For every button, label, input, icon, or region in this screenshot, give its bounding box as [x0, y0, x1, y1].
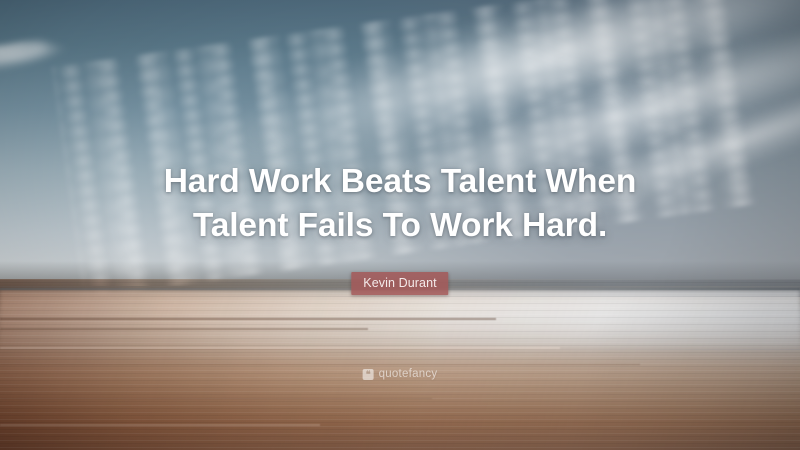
watermark[interactable]: ❝ quotefancy: [363, 368, 438, 380]
quote-text: Hard Work Beats Talent When Talent Fails…: [0, 160, 800, 248]
watermark-label: quotefancy: [379, 368, 438, 380]
quote-mark-icon: ❝: [363, 369, 374, 380]
author-badge: Kevin Durant: [351, 272, 448, 295]
quote-content: Hard Work Beats Talent When Talent Fails…: [0, 0, 800, 450]
quote-wallpaper: Hard Work Beats Talent When Talent Fails…: [0, 0, 800, 450]
